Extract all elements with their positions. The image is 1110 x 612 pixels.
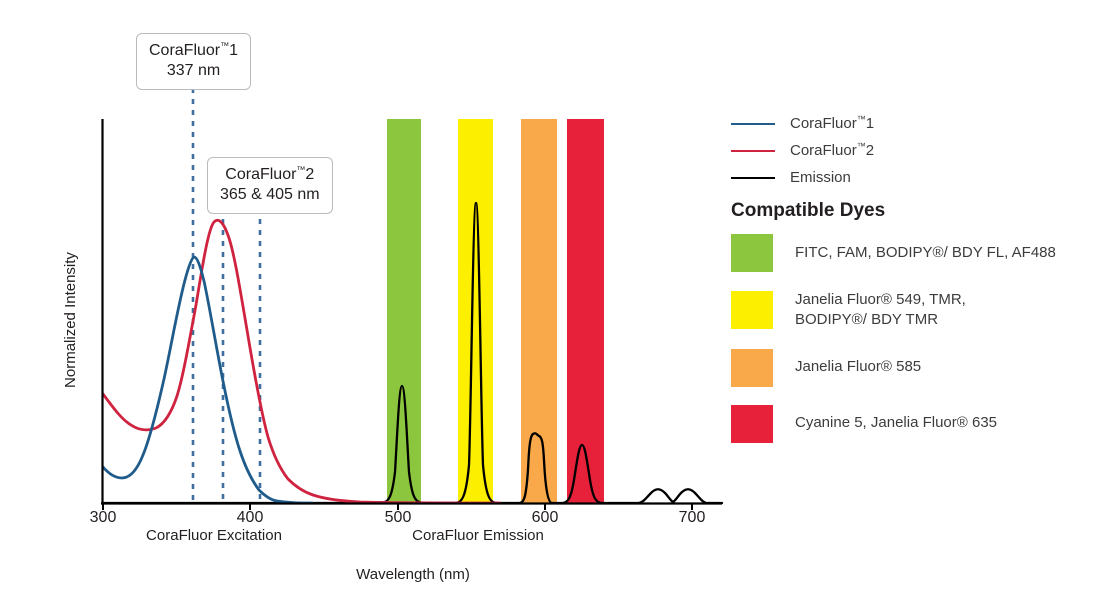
x-tick-label-700: 700 xyxy=(679,509,706,527)
callout-corafluor1-line1: CoraFluor™1 xyxy=(149,41,238,61)
axis-group-label-excitation: CoraFluor Excitation xyxy=(146,527,282,544)
emission-band-green xyxy=(387,119,421,504)
excitation-markers xyxy=(193,88,260,504)
x-tick-label-500: 500 xyxy=(385,509,412,527)
x-tick-label-400: 400 xyxy=(237,509,264,527)
legend-line-swatch-emission xyxy=(731,177,775,179)
callout-corafluor2: CoraFluor™2 365 & 405 nm xyxy=(207,157,333,214)
legend-label-corafluor2: CoraFluor™2 xyxy=(790,142,874,159)
dye-label-green: FITC, FAM, BODIPY®/ BDY FL, AF488 xyxy=(795,243,1056,263)
dye-label-orange: Janelia Fluor® 585 xyxy=(795,357,921,377)
dye-color-swatch-orange xyxy=(731,349,773,387)
legend-label-corafluor1: CoraFluor™1 xyxy=(790,115,874,132)
compatible-dyes-heading: Compatible Dyes xyxy=(731,200,885,222)
series-legend: CoraFluor™1 CoraFluor™2 Emission xyxy=(731,110,1071,191)
callout-corafluor2-line2: 365 & 405 nm xyxy=(220,185,320,205)
legend-item-corafluor1: CoraFluor™1 xyxy=(731,110,1071,137)
dye-item-green: FITC, FAM, BODIPY®/ BDY FL, AF488 xyxy=(731,234,1091,272)
y-axis-title-text: Normalized Intensity xyxy=(62,230,79,410)
dye-label-red: Cyanine 5, Janelia Fluor® 635 xyxy=(795,413,997,433)
emission-band-yellow xyxy=(458,119,493,504)
legend-line-swatch-corafluor2 xyxy=(731,150,775,152)
x-tick-label-600: 600 xyxy=(532,509,559,527)
x-tick-label-300: 300 xyxy=(90,509,117,527)
emission-band-red xyxy=(567,119,604,504)
dye-color-swatch-green xyxy=(731,234,773,272)
trademark-symbol: ™ xyxy=(857,114,866,124)
callout-corafluor1: CoraFluor™1 337 nm xyxy=(136,33,251,90)
chart-root: CoraFluor™1 337 nm CoraFluor™2 365 & 405… xyxy=(0,0,1110,612)
dye-label-yellow: Janelia Fluor® 549, TMR,BODIPY®/ BDY TMR xyxy=(795,290,966,331)
trademark-symbol: ™ xyxy=(857,141,866,151)
x-axis-title: Wavelength (nm) xyxy=(356,566,470,583)
y-axis-title: Normalized Intensity xyxy=(62,50,79,230)
axis-group-label-emission: CoraFluor Emission xyxy=(412,527,544,544)
legend-line-swatch-corafluor1 xyxy=(731,123,775,125)
legend-item-corafluor2: CoraFluor™2 xyxy=(731,137,1071,164)
legend-item-emission: Emission xyxy=(731,164,1071,191)
dye-item-orange: Janelia Fluor® 585 xyxy=(731,349,1091,387)
dye-color-swatch-red xyxy=(731,405,773,443)
callout-corafluor2-line1: CoraFluor™2 xyxy=(220,165,320,185)
trademark-symbol: ™ xyxy=(220,41,229,51)
compatible-dyes-list: FITC, FAM, BODIPY®/ BDY FL, AF488 Janeli… xyxy=(731,234,1091,461)
dye-item-yellow: Janelia Fluor® 549, TMR,BODIPY®/ BDY TMR xyxy=(731,290,1091,331)
callout-corafluor1-line2: 337 nm xyxy=(149,61,238,81)
dye-color-swatch-yellow xyxy=(731,291,773,329)
legend-label-emission: Emission xyxy=(790,169,851,186)
dye-item-red: Cyanine 5, Janelia Fluor® 635 xyxy=(731,405,1091,443)
emission-band-orange xyxy=(521,119,557,504)
emission-bands xyxy=(387,119,604,504)
corafluor2-curve xyxy=(103,220,500,503)
